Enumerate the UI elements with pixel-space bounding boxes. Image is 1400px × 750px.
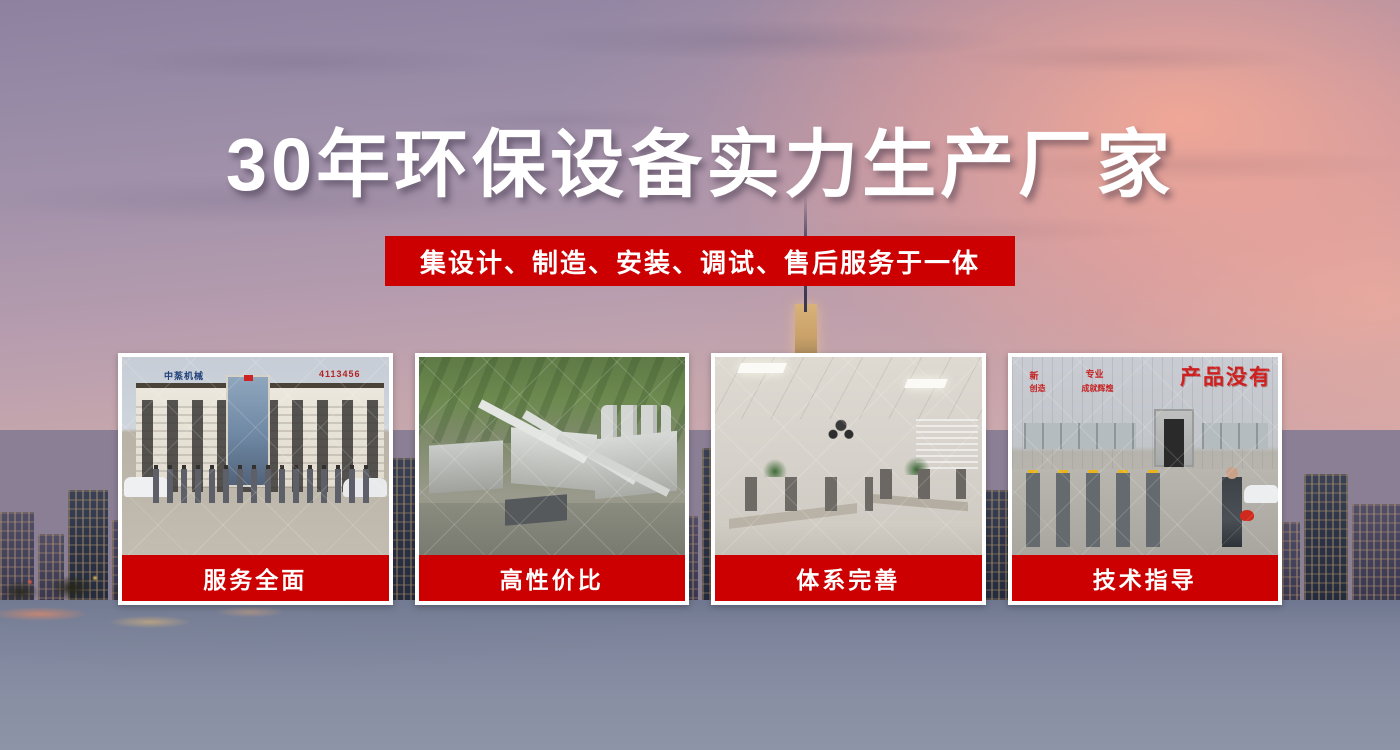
feature-card[interactable]: 产品没有 新 创造 专业 成就辉煌 技术指导 [1008, 353, 1283, 605]
feature-card[interactable]: 体系完善 [711, 353, 986, 605]
card-photo-workers: 产品没有 新 创造 专业 成就辉煌 [1012, 357, 1279, 555]
card-caption: 服务全面 [122, 555, 389, 601]
factory-slogan-3: 专业 [1086, 367, 1104, 380]
factory-slogan-2: 创造 [1030, 383, 1046, 394]
factory-slogan-4: 成就辉煌 [1082, 383, 1114, 394]
promo-banner: 30年环保设备实力生产厂家 集设计、制造、安装、调试、售后服务于一体 中蒸机械 … [0, 0, 1400, 750]
card-caption: 体系完善 [715, 555, 982, 601]
subtitle-text: 集设计、制造、安装、调试、售后服务于一体 [420, 243, 980, 280]
page-title: 30年环保设备实力生产厂家 [0, 128, 1400, 202]
factory-slogan-1: 新 [1030, 369, 1039, 382]
feature-card-list: 中蒸机械 4113456 服务全面 [118, 353, 1282, 605]
subtitle-banner: 集设计、制造、安装、调试、售后服务于一体 [385, 236, 1015, 286]
feature-card[interactable]: 高性价比 [415, 353, 690, 605]
feature-card[interactable]: 中蒸机械 4113456 服务全面 [118, 353, 393, 605]
building-sign-text: 中蒸机械 [164, 369, 204, 382]
factory-sign-text: 产品没有 [1180, 361, 1272, 391]
building-phone-text: 4113456 [319, 369, 361, 379]
card-caption: 技术指导 [1012, 555, 1279, 601]
card-photo-headquarters: 中蒸机械 4113456 [122, 357, 389, 555]
card-photo-plant [419, 357, 686, 555]
card-photo-office [715, 357, 982, 555]
card-caption: 高性价比 [419, 555, 686, 601]
